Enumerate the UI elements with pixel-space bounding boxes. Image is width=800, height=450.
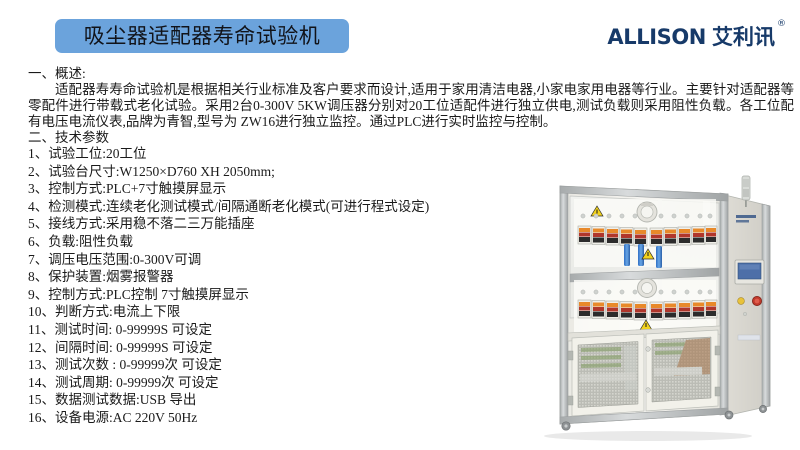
touch-screen-display[interactable]: [735, 260, 764, 284]
indicator-lamp-yellow[interactable]: [738, 298, 745, 305]
hinge: [568, 351, 573, 360]
page-title: 吸尘器适配器寿命试验机: [84, 26, 321, 47]
registered-trademark-icon: ®: [777, 20, 786, 29]
title-banner: 吸尘器适配器寿命试验机: [55, 19, 349, 53]
page-header: 吸尘器适配器寿命试验机 ALLISON 艾利讯 ®: [0, 0, 800, 66]
station-row-lower: [574, 279, 717, 333]
logo-text-en: ALLISON: [607, 27, 706, 48]
machine-shadow: [544, 431, 752, 441]
station-row-upper: [574, 199, 717, 268]
hinge: [715, 346, 720, 355]
adapter-units: [624, 244, 662, 268]
door-latch[interactable]: [646, 347, 651, 352]
machine-illustration: [498, 168, 798, 448]
nameplate: [738, 335, 760, 340]
specs-heading: 二、技术参数: [0, 130, 800, 146]
list-item: 1、试验工位:20工位: [28, 145, 800, 163]
company-logo: ALLISON 艾利讯 ®: [607, 27, 786, 48]
indicator-lamp-small[interactable]: [743, 312, 746, 315]
overview-heading: 一、概述:: [0, 66, 800, 82]
voltage-regulator-knob[interactable]: [638, 279, 657, 298]
door-latch[interactable]: [646, 388, 651, 393]
logo-text-cn: 艾利讯: [712, 27, 775, 48]
hinge: [715, 387, 720, 396]
overview-paragraph: 适配器寿寿命试验机是根据相关行业标准及客户要求而设计,适用于家用清洁电器,小家电…: [0, 82, 800, 130]
voltage-regulator-knob[interactable]: [637, 202, 657, 222]
hinge: [568, 396, 573, 405]
lower-cabinet-doors[interactable]: [568, 330, 720, 416]
machine-photo: [498, 168, 798, 448]
